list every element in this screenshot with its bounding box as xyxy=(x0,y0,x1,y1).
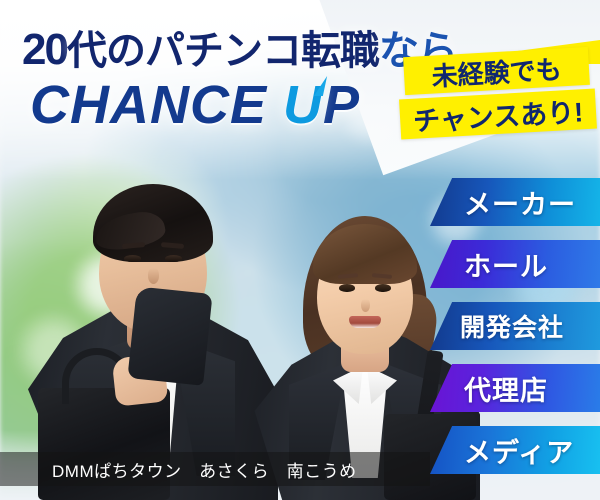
woman-mouth xyxy=(349,316,381,328)
advertisement-banner[interactable]: 20代のパチンコ転職なら CHANCE UP 未経験でも チャンスあり! メーカ… xyxy=(0,0,600,500)
woman-eye-right xyxy=(375,284,391,292)
headline-text: 代のパチンコ転職 xyxy=(67,29,379,73)
category-label: 開発会社 xyxy=(460,308,564,344)
category-button-developer[interactable]: 開発会社 xyxy=(430,302,600,350)
brand-logo: CHANCE UP xyxy=(30,74,360,136)
logo-up-u-arrow-icon: U xyxy=(283,74,323,136)
category-button-agency[interactable]: 代理店 xyxy=(430,364,600,412)
logo-main-text: CHANCE xyxy=(30,75,267,135)
headline-number: 20 xyxy=(22,25,67,74)
category-button-media[interactable]: メディア xyxy=(430,426,600,474)
category-button-hall[interactable]: ホール xyxy=(430,240,600,288)
man-sleeve xyxy=(127,286,212,385)
category-button-maker[interactable]: メーカー xyxy=(430,178,600,226)
badge-label: 未経験でも xyxy=(431,49,563,93)
category-label: メーカー xyxy=(464,183,576,222)
woman-eye-left xyxy=(339,284,355,292)
category-label: メディア xyxy=(464,431,574,470)
category-label: ホール xyxy=(464,245,548,284)
caption-bar: DMMぱちタウン あさくら 南こうめ xyxy=(0,452,430,486)
page-title: 20代のパチンコ転職なら xyxy=(22,18,457,76)
category-label: 代理店 xyxy=(464,369,548,408)
man-eye-left xyxy=(124,255,141,262)
businessman-photo xyxy=(28,155,278,500)
man-eye-right xyxy=(165,255,182,262)
woman-nose xyxy=(361,299,370,312)
man-nose xyxy=(148,268,159,284)
logo-up-p: P xyxy=(323,75,360,135)
caption-text: DMMぱちタウン あさくら 南こうめ xyxy=(52,457,357,482)
